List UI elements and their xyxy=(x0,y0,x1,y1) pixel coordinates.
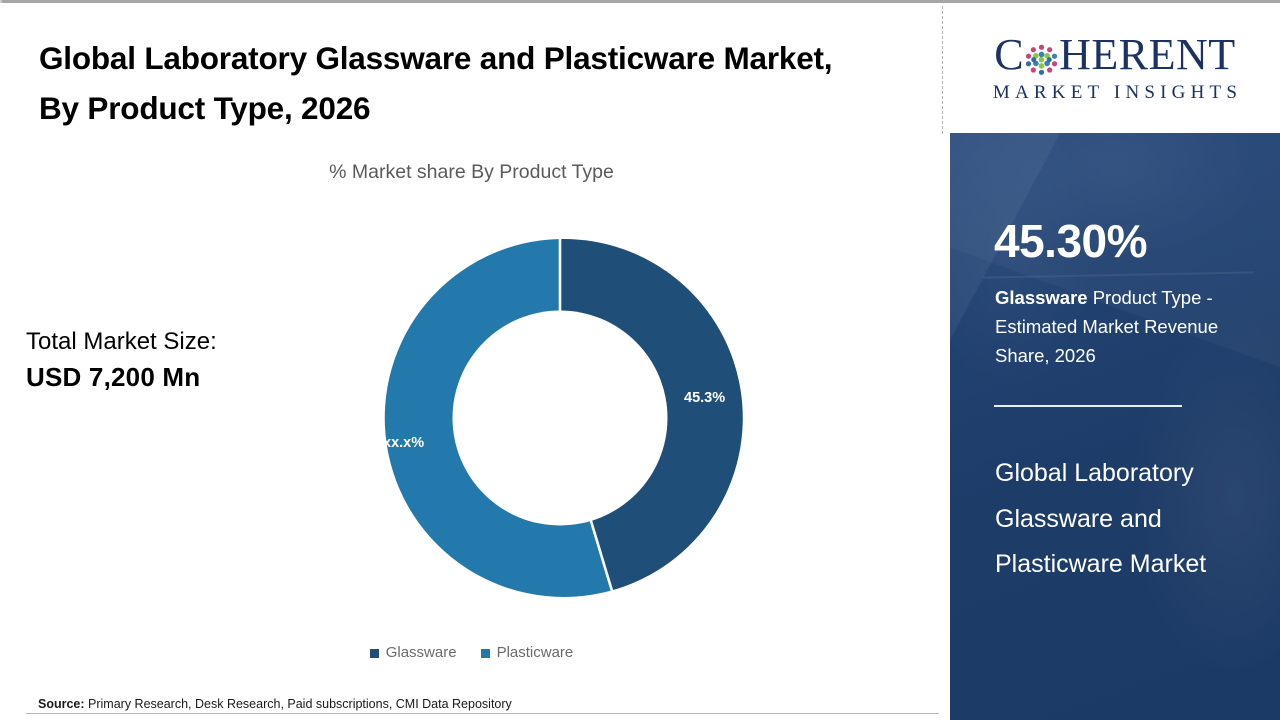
donut-chart-svg xyxy=(377,235,743,601)
market-size-value: USD 7,200 Mn xyxy=(26,359,346,396)
vertical-dashed-divider xyxy=(942,6,943,134)
source-divider xyxy=(26,713,939,714)
legend-item-plasticware[interactable]: Plasticware xyxy=(481,644,574,661)
stat-value: 45.30% xyxy=(994,218,1147,264)
page-title: Global Laboratory Glassware and Plasticw… xyxy=(39,33,869,134)
legend-swatch-icon xyxy=(370,649,379,658)
panel-divider xyxy=(994,405,1182,407)
panel-footer-title: Global Laboratory Glassware and Plasticw… xyxy=(995,451,1263,588)
logo-word-before: C xyxy=(994,33,1024,77)
legend-item-glassware[interactable]: Glassware xyxy=(370,644,457,661)
source-text: Primary Research, Desk Research, Paid su… xyxy=(85,697,512,711)
brand-logo[interactable]: C xyxy=(950,3,1280,133)
infographic-page: Global Laboratory Glassware and Plasticw… xyxy=(0,0,1280,720)
chart-legend: Glassware Plasticware xyxy=(0,644,943,661)
total-market-size-block: Total Market Size: USD 7,200 Mn xyxy=(26,325,346,396)
source-note: Source: Primary Research, Desk Research,… xyxy=(38,697,512,711)
chart-pane: Global Laboratory Glassware and Plasticw… xyxy=(0,3,943,720)
stat-description-strong: Glassware xyxy=(995,287,1088,308)
logo-word-after: HERENT xyxy=(1059,33,1236,77)
highlight-panel: 45.30% Glassware Product Type - Estimate… xyxy=(950,133,1280,720)
market-size-label: Total Market Size: xyxy=(26,325,346,359)
globe-dots-icon xyxy=(1025,40,1058,73)
chart-subtitle: % Market share By Product Type xyxy=(0,161,943,184)
logo-wordmark: C xyxy=(994,33,1235,77)
donut-hole xyxy=(453,311,668,526)
donut-chart: 45.3% xx.x% xyxy=(377,235,743,601)
donut-label-glassware: 45.3% xyxy=(684,390,725,406)
legend-swatch-icon xyxy=(481,649,490,658)
source-prefix: Source: xyxy=(38,697,85,711)
legend-label: Plasticware xyxy=(497,644,574,661)
logo-tagline: MARKET INSIGHTS xyxy=(988,82,1242,104)
stat-description: Glassware Product Type - Estimated Marke… xyxy=(995,283,1261,370)
legend-label: Glassware xyxy=(386,644,457,661)
donut-label-plasticware: xx.x% xyxy=(383,435,424,451)
